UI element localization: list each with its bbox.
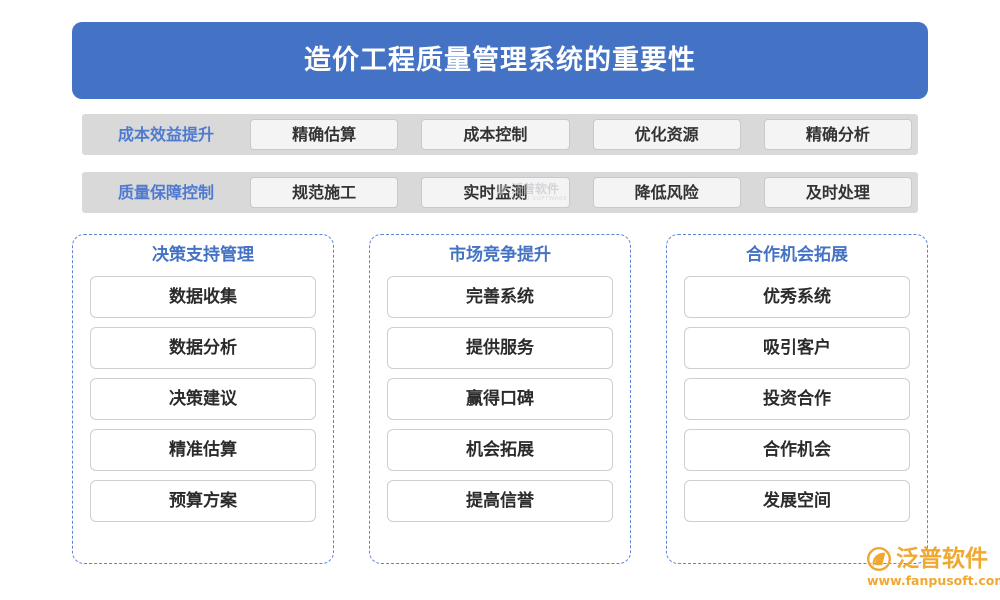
row-item-pill[interactable]: 降低风险 [593, 177, 741, 208]
card-item[interactable]: 预算方案 [90, 480, 316, 522]
card-item[interactable]: 机会拓展 [387, 429, 613, 471]
card-item[interactable]: 发展空间 [684, 480, 910, 522]
row-item-pill[interactable]: 精确分析 [764, 119, 912, 150]
infographic-page: 造价工程质量管理系统的重要性 成本效益提升 精确估算 成本控制 优化资源 精确分… [0, 0, 1000, 600]
card-item[interactable]: 提高信誉 [387, 480, 613, 522]
card-items: 数据收集 数据分析 决策建议 精准估算 预算方案 [90, 276, 316, 522]
brand-logo: 泛普软件 www.fanpusoft.com [866, 545, 994, 591]
brand-logo-row: 泛普软件 [866, 545, 988, 573]
card-cooperation-opportunity: 合作机会拓展 优秀系统 吸引客户 投资合作 合作机会 发展空间 [666, 234, 928, 564]
card-title: 决策支持管理 [90, 247, 316, 264]
card-decision-support: 决策支持管理 数据收集 数据分析 决策建议 精准估算 预算方案 [72, 234, 334, 564]
page-title: 造价工程质量管理系统的重要性 [304, 47, 696, 74]
card-item[interactable]: 优秀系统 [684, 276, 910, 318]
card-items: 优秀系统 吸引客户 投资合作 合作机会 发展空间 [684, 276, 910, 522]
card-item[interactable]: 精准估算 [90, 429, 316, 471]
fanpu-swoosh-icon [866, 546, 892, 572]
title-banner: 造价工程质量管理系统的重要性 [72, 22, 928, 99]
card-title: 市场竞争提升 [387, 247, 613, 264]
row-item-pill[interactable]: 实时监测 [421, 177, 569, 208]
row-item-pill[interactable]: 成本控制 [421, 119, 569, 150]
category-row-quality-control: 质量保障控制 规范施工 实时监测 降低风险 及时处理 [82, 172, 918, 213]
card-item[interactable]: 数据收集 [90, 276, 316, 318]
card-item[interactable]: 决策建议 [90, 378, 316, 420]
card-item[interactable]: 赢得口碑 [387, 378, 613, 420]
row-item-pill[interactable]: 及时处理 [764, 177, 912, 208]
card-item[interactable]: 提供服务 [387, 327, 613, 369]
brand-name: 泛普软件 [896, 548, 988, 571]
card-item[interactable]: 投资合作 [684, 378, 910, 420]
card-title: 合作机会拓展 [684, 247, 910, 264]
category-label-quality-control: 质量保障控制 [82, 185, 250, 201]
card-items: 完善系统 提供服务 赢得口碑 机会拓展 提高信誉 [387, 276, 613, 522]
card-item[interactable]: 吸引客户 [684, 327, 910, 369]
brand-url: www.fanpusoft.com [867, 575, 1000, 588]
card-item[interactable]: 合作机会 [684, 429, 910, 471]
columns-container: 决策支持管理 数据收集 数据分析 决策建议 精准估算 预算方案 市场竞争提升 完… [72, 234, 928, 564]
category-row-cost-benefit: 成本效益提升 精确估算 成本控制 优化资源 精确分析 [82, 114, 918, 155]
card-item[interactable]: 数据分析 [90, 327, 316, 369]
category-label-cost-benefit: 成本效益提升 [82, 127, 250, 143]
category-row-items-quality-control: 规范施工 实时监测 降低风险 及时处理 [250, 177, 918, 208]
category-row-items-cost-benefit: 精确估算 成本控制 优化资源 精确分析 [250, 119, 918, 150]
row-item-pill[interactable]: 规范施工 [250, 177, 398, 208]
row-item-pill[interactable]: 优化资源 [593, 119, 741, 150]
card-item[interactable]: 完善系统 [387, 276, 613, 318]
card-market-competition: 市场竞争提升 完善系统 提供服务 赢得口碑 机会拓展 提高信誉 [369, 234, 631, 564]
row-item-pill[interactable]: 精确估算 [250, 119, 398, 150]
